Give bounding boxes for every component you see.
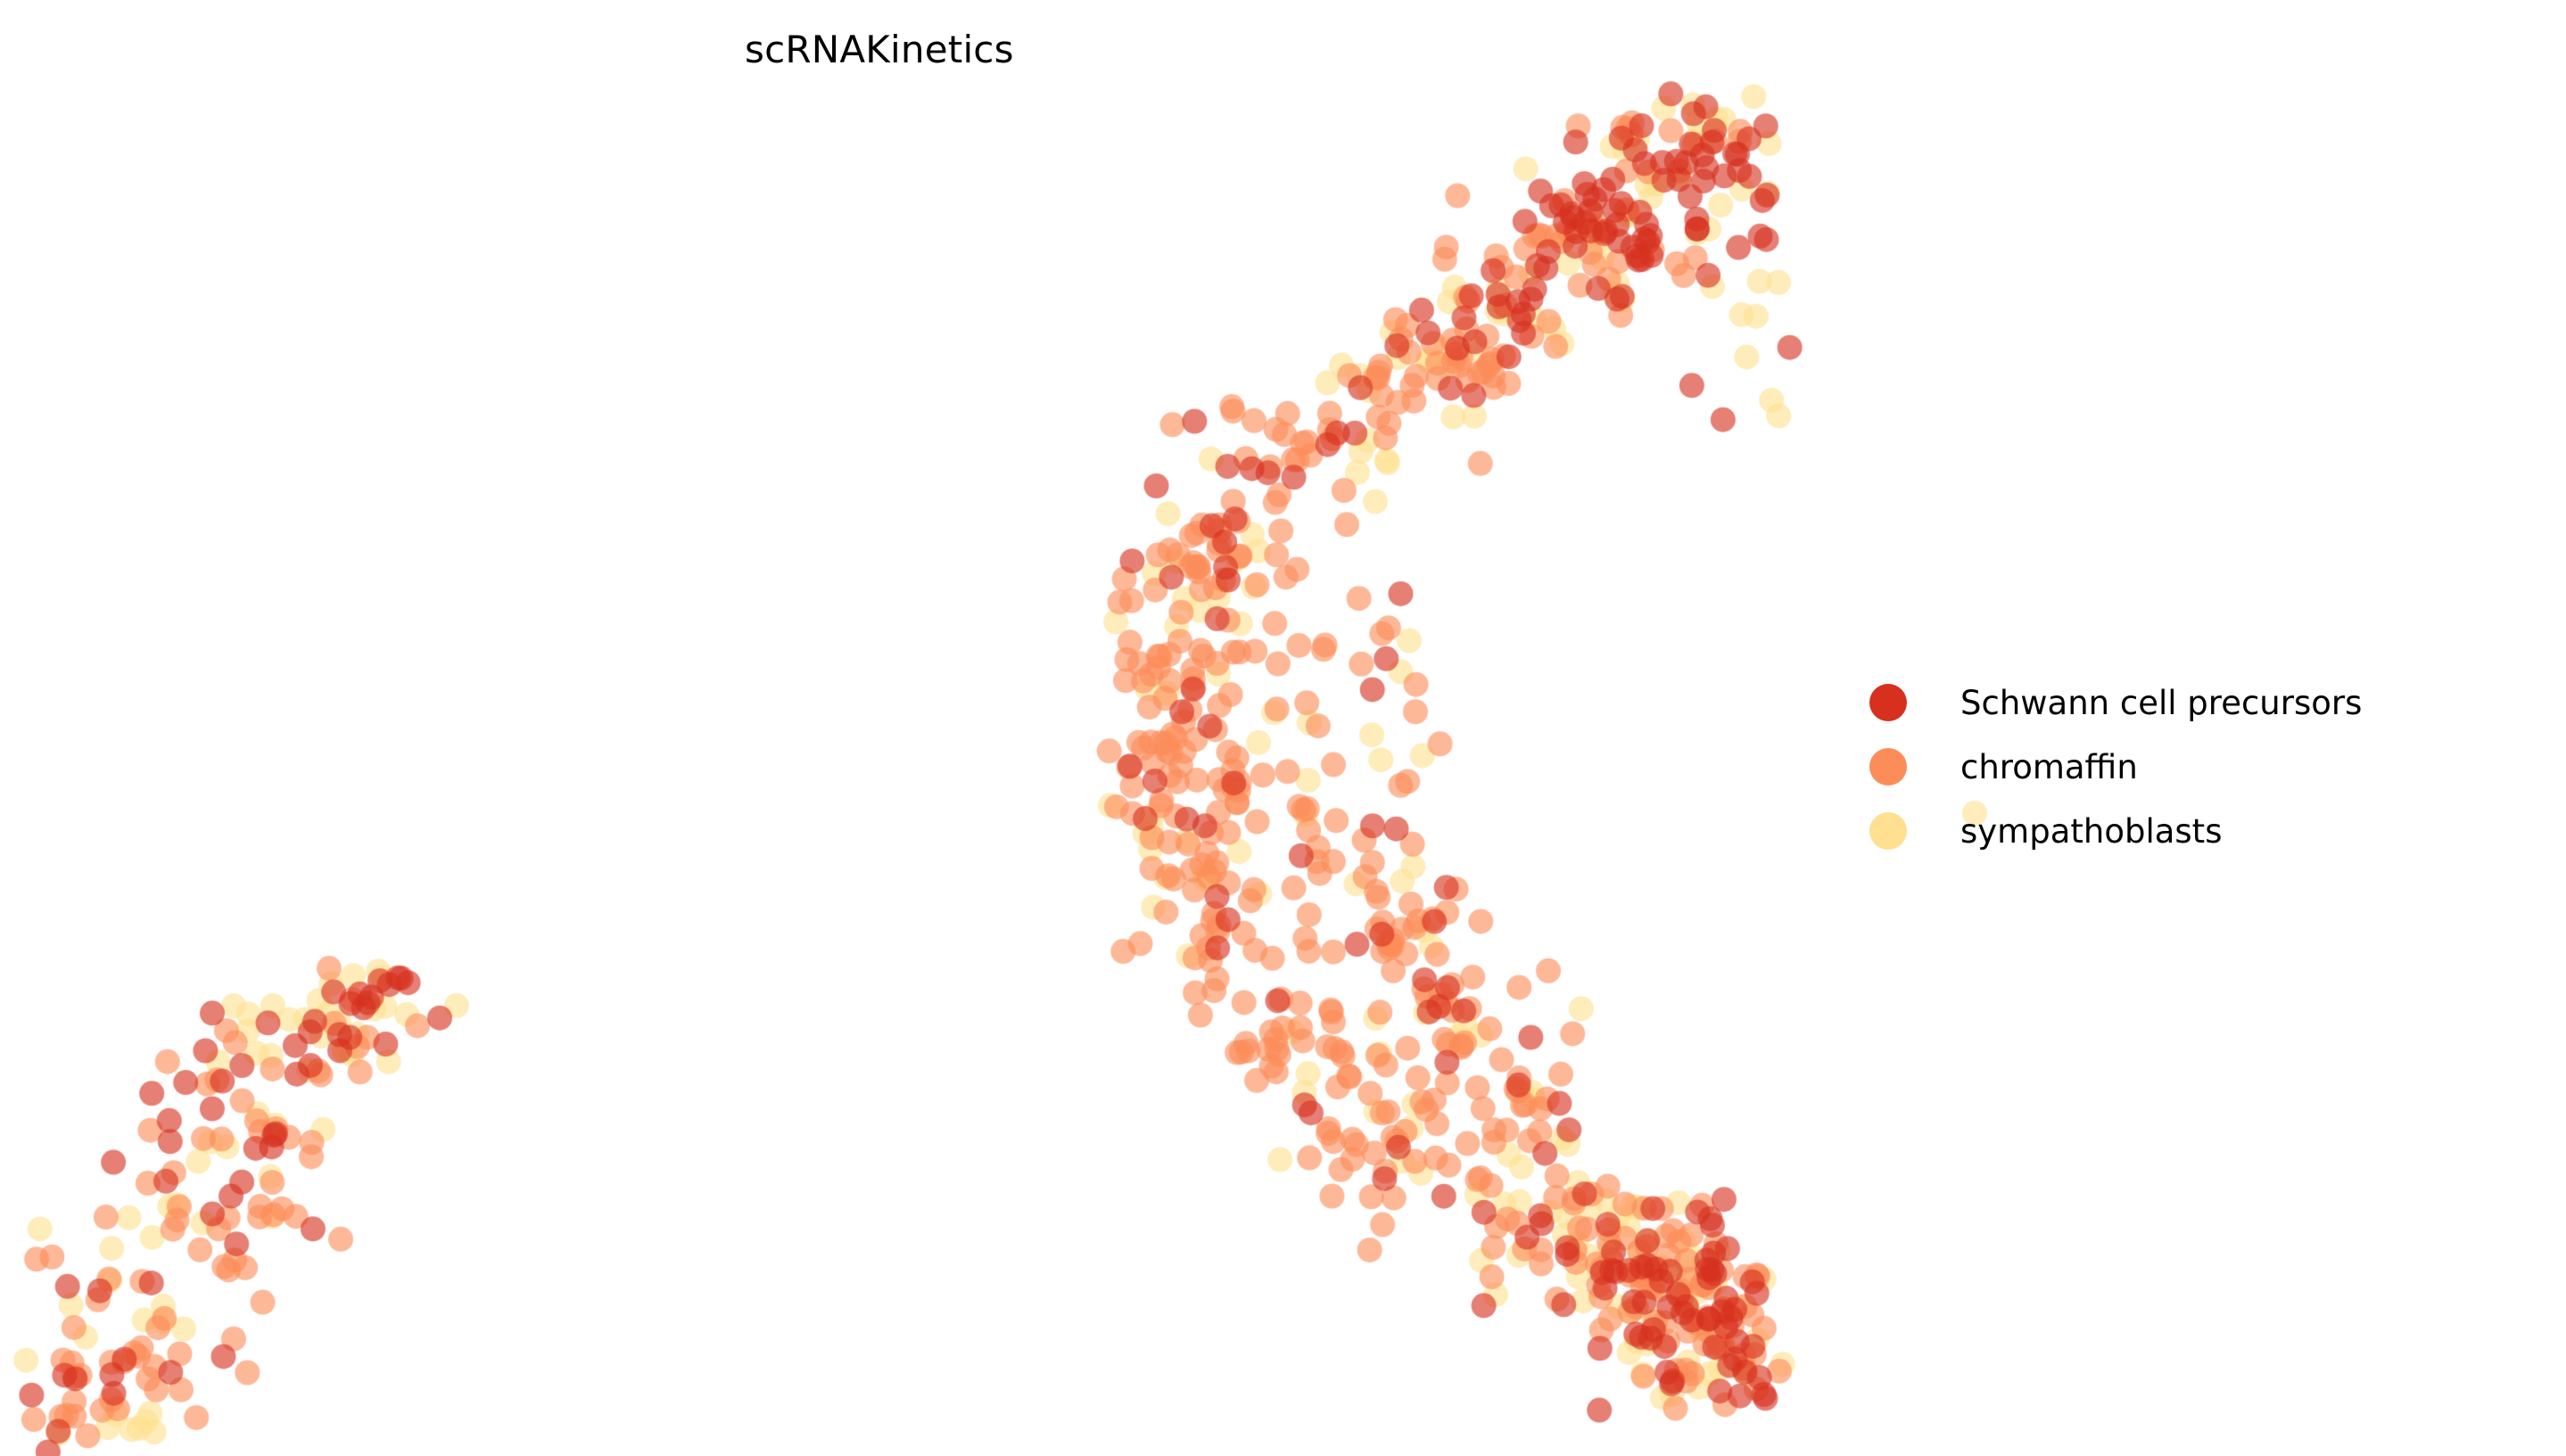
legend-item-label: sympathoblasts [1960, 815, 2222, 848]
legend-item-schwann-cell-precursors[interactable]: Schwann cell precursors [1869, 670, 2547, 735]
legend-item-chromaffin[interactable]: chromaffin [1869, 735, 2547, 799]
legend-item-sympathoblasts[interactable]: sympathoblasts [1869, 799, 2547, 863]
legend-marker-icon [1869, 748, 1907, 786]
legend-item-label: chromaffin [1960, 751, 2138, 784]
legend-marker-icon [1869, 812, 1907, 850]
legend: Schwann cell precursors chromaffin sympa… [1869, 670, 2547, 863]
scrna-kinetics-figure: scRNAKinetics Schwann cell precursors ch… [0, 0, 2566, 1456]
legend-item-label: Schwann cell precursors [1960, 687, 2362, 720]
legend-marker-icon [1869, 684, 1907, 721]
